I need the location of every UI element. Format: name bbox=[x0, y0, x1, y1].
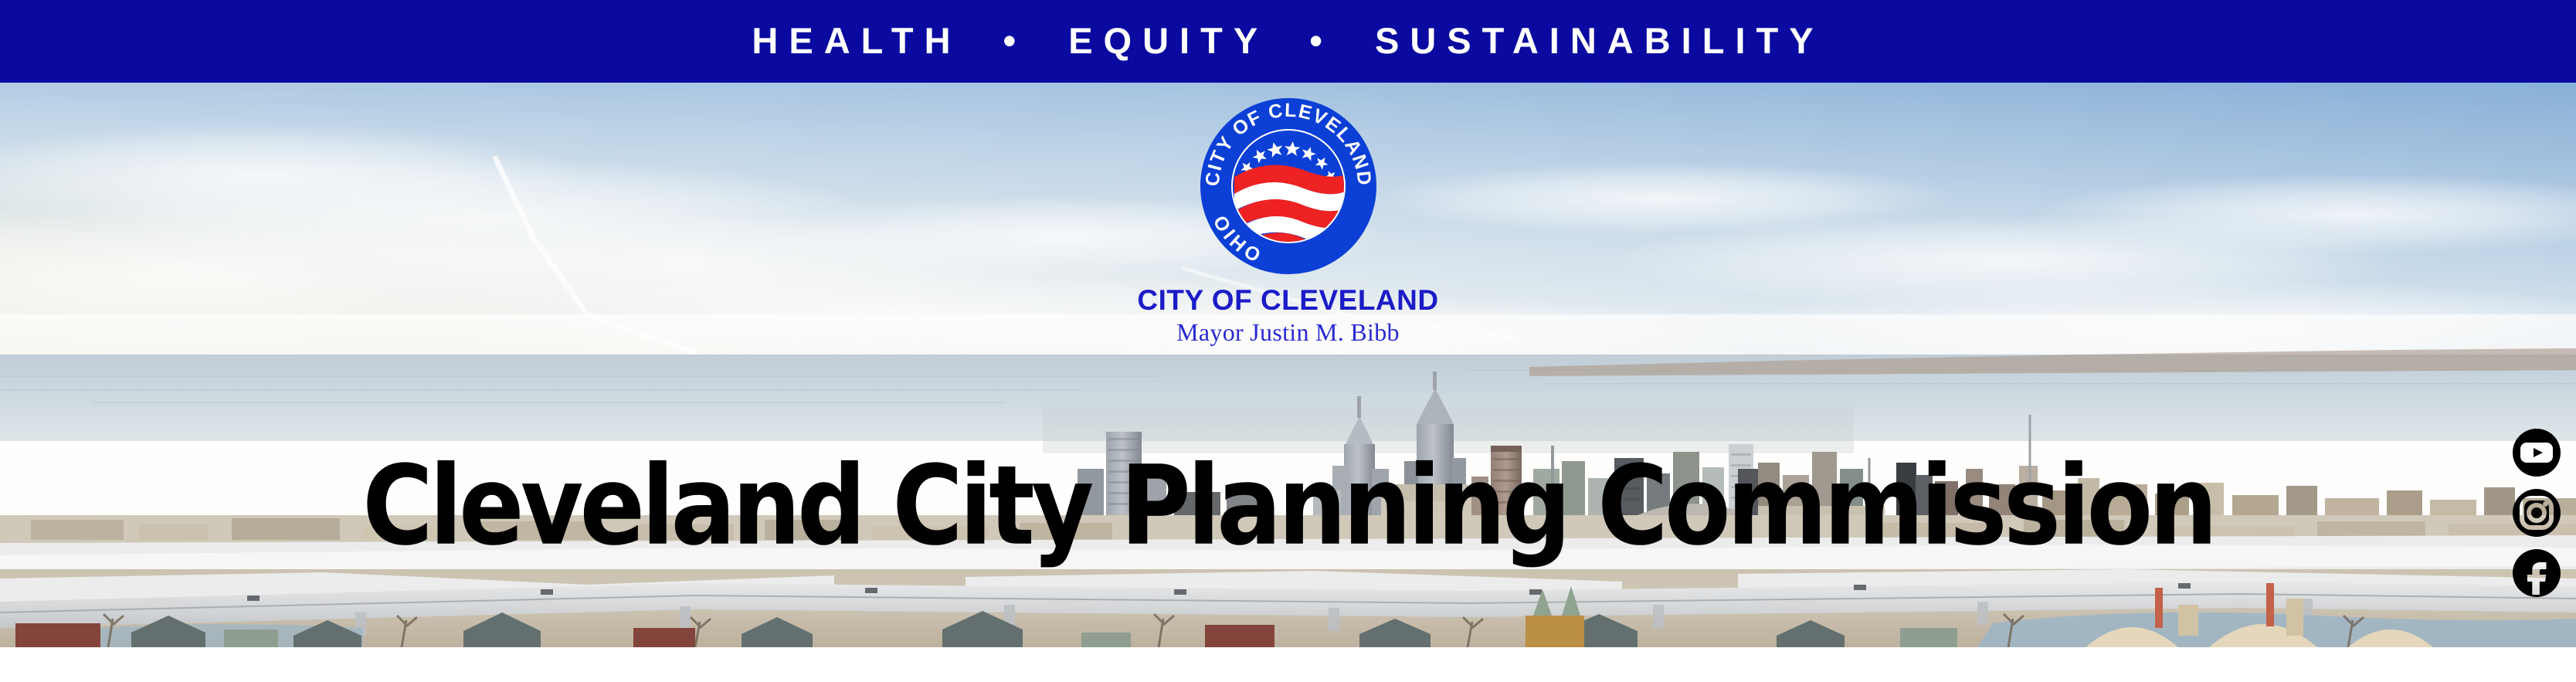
instagram-icon bbox=[2509, 485, 2564, 541]
youtube-link[interactable] bbox=[2509, 425, 2564, 480]
facebook-icon bbox=[2509, 545, 2564, 601]
page-title: Cleveland City Planning Commission bbox=[0, 451, 2576, 555]
tagline-ribbon: HEALTH • EQUITY • SUSTAINABILITY bbox=[0, 0, 2576, 83]
facebook-link[interactable] bbox=[2509, 545, 2564, 601]
social-links bbox=[2504, 425, 2569, 601]
page-root: HEALTH • EQUITY • SUSTAINABILITY CITY OF… bbox=[0, 0, 2576, 682]
city-of-cleveland-seal-icon: CITY OF CLEVELAND OHIO bbox=[1199, 97, 1378, 276]
city-seal[interactable]: CITY OF CLEVELAND OHIO bbox=[1199, 97, 1378, 276]
youtube-icon bbox=[2509, 425, 2564, 480]
tagline-text: HEALTH • EQUITY • SUSTAINABILITY bbox=[752, 22, 1824, 59]
page-title-text: Cleveland City Planning Commission bbox=[362, 451, 2214, 561]
instagram-link[interactable] bbox=[2509, 485, 2564, 541]
